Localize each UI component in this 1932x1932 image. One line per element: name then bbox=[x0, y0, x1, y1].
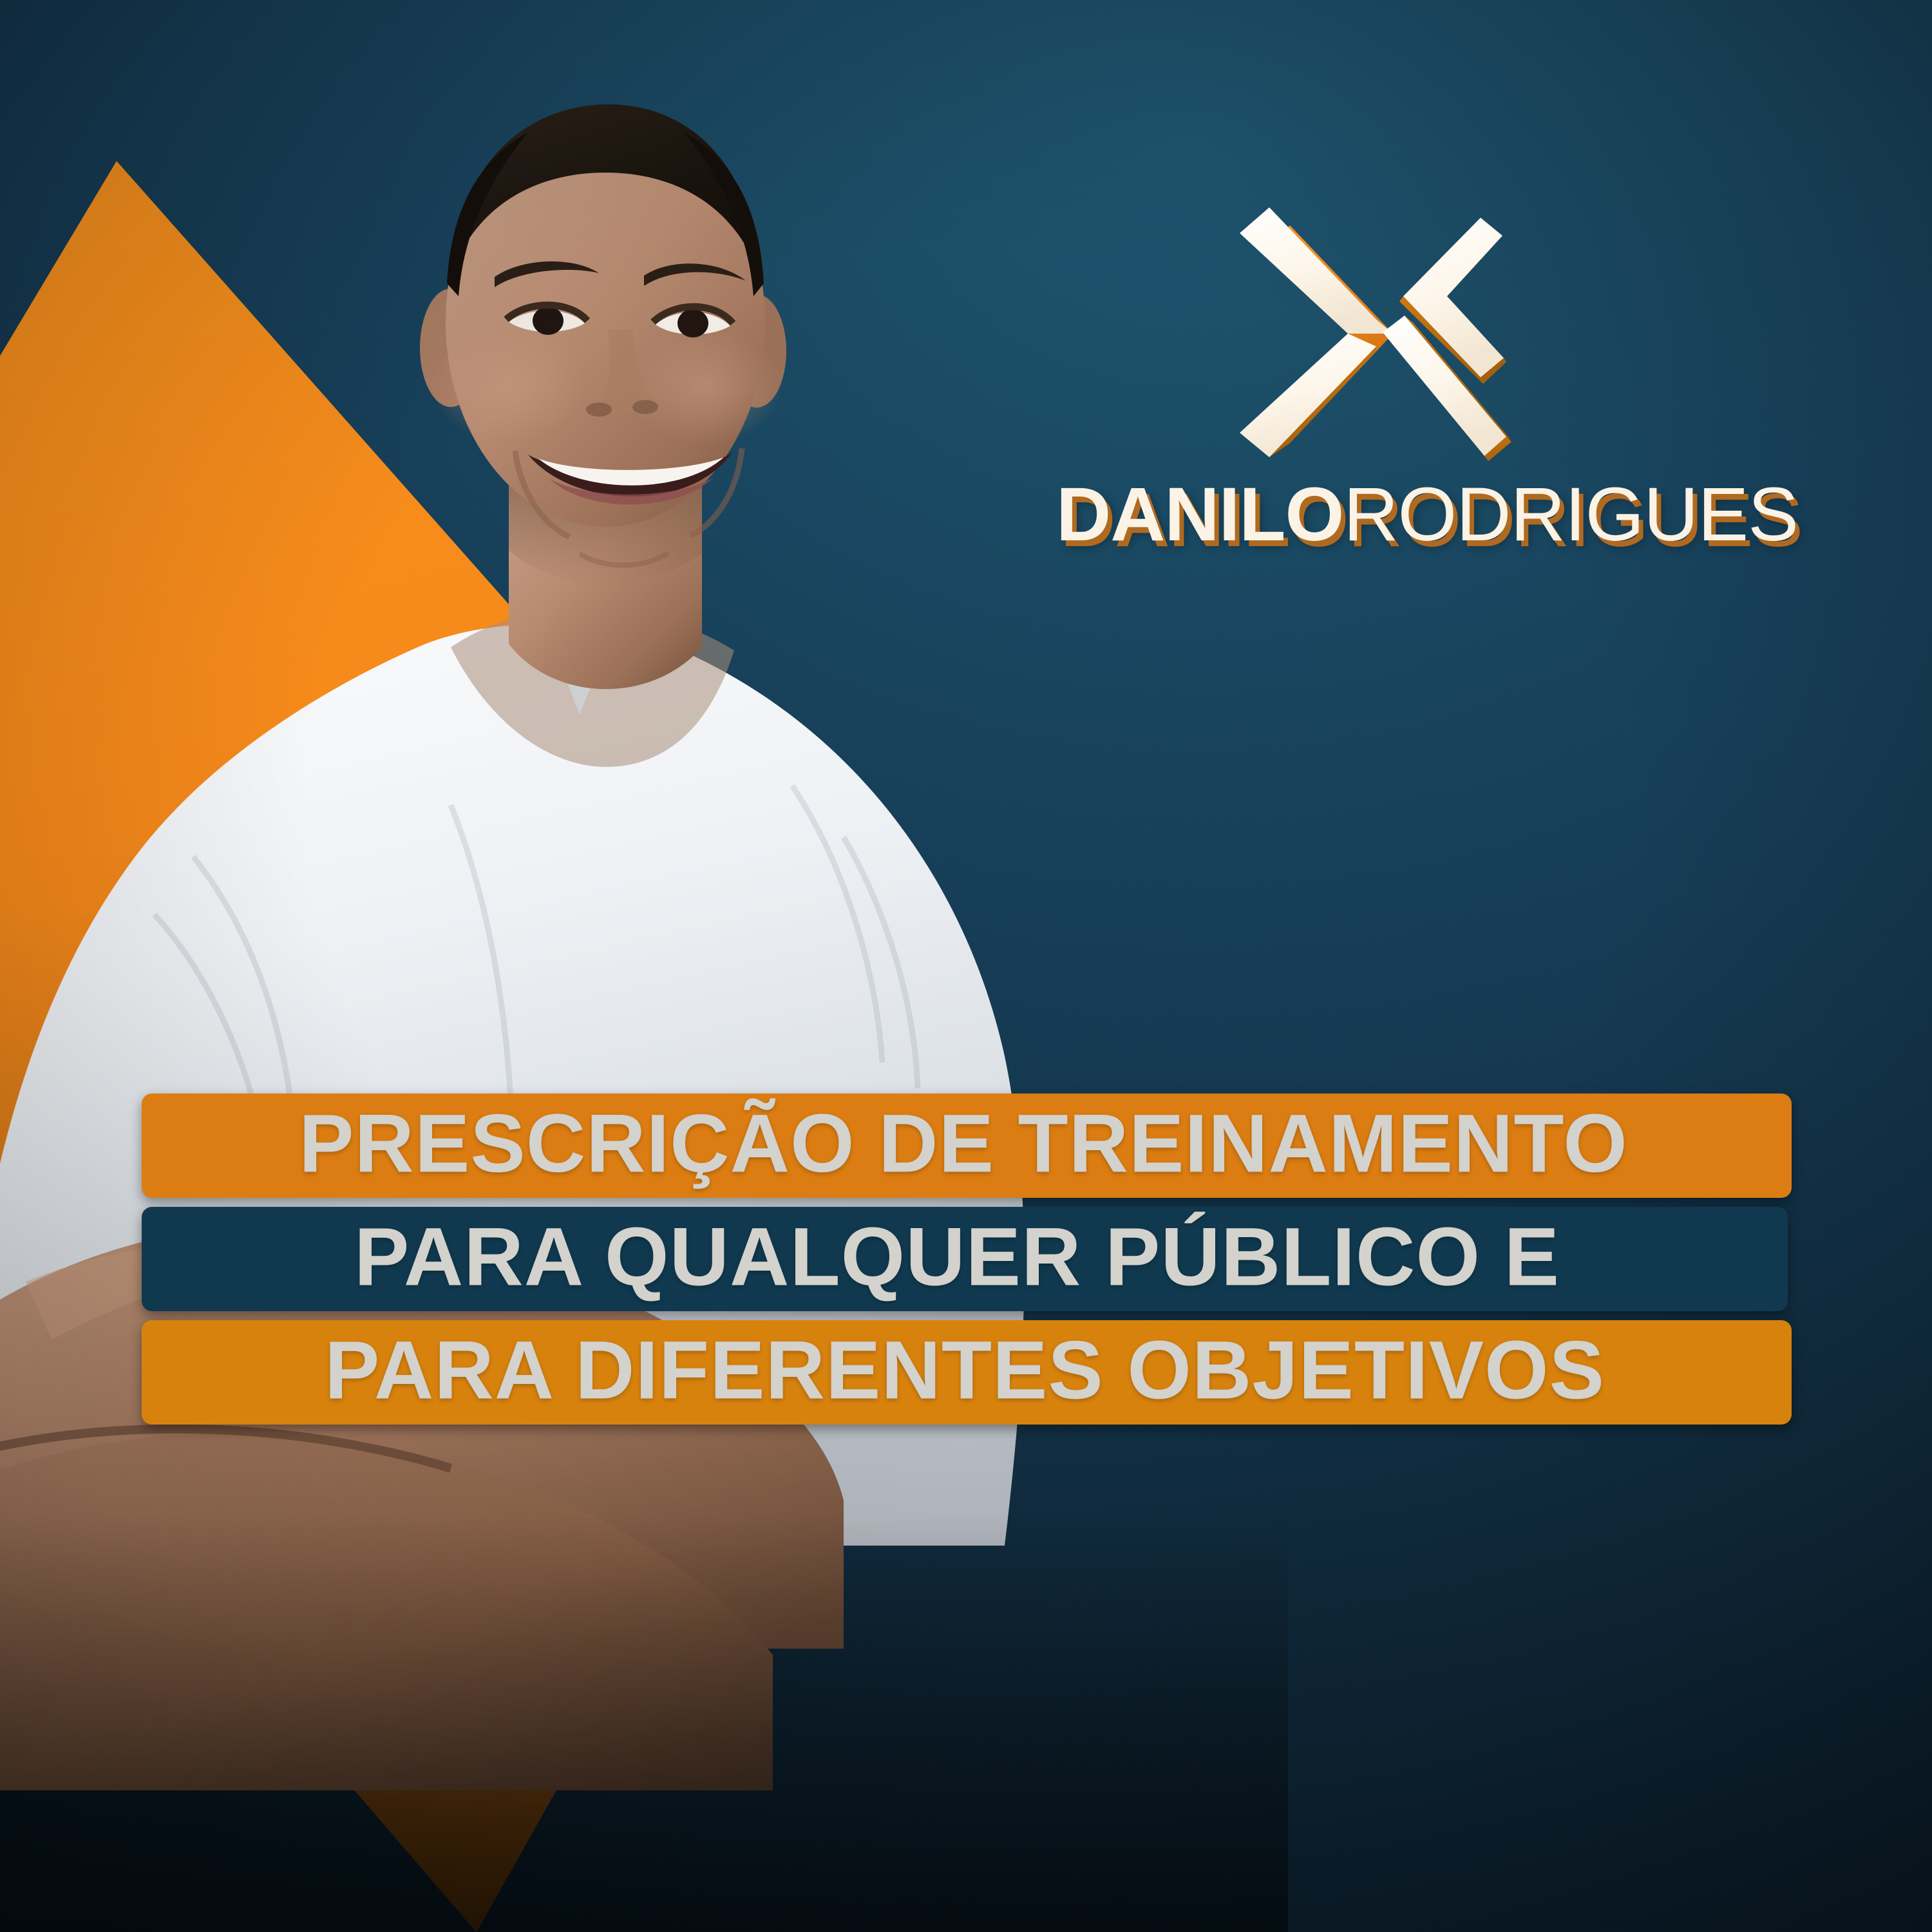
headline-band-3: PARA DIFERENTES OBJETIVOS bbox=[142, 1320, 1792, 1425]
headline-line-3: PARA DIFERENTES OBJETIVOS bbox=[142, 1323, 1792, 1418]
brand-name-bold: DANILO bbox=[1056, 472, 1343, 557]
headline-block: PRESCRIÇÃO DE TREINAMENTO PARA QUALQUER … bbox=[142, 1094, 1816, 1434]
headline-line-1: PRESCRIÇÃO DE TREINAMENTO bbox=[142, 1097, 1792, 1191]
crossed-chevrons-x-monogram-icon bbox=[1220, 193, 1523, 470]
brand-name-light: RODRIGUES bbox=[1343, 472, 1798, 557]
headline-band-2: PARA QUALQUER PÚBLICO E bbox=[142, 1207, 1788, 1311]
brand-logo[interactable]: DANILORODRIGUES bbox=[1056, 193, 1739, 605]
brand-wordmark: DANILORODRIGUES bbox=[1056, 477, 1739, 553]
poster-canvas: DANILORODRIGUES PRESCRIÇÃO DE TREINAMENT… bbox=[0, 0, 1932, 1932]
headline-line-2: PARA QUALQUER PÚBLICO E bbox=[142, 1210, 1788, 1305]
headline-band-1: PRESCRIÇÃO DE TREINAMENTO bbox=[142, 1094, 1792, 1198]
